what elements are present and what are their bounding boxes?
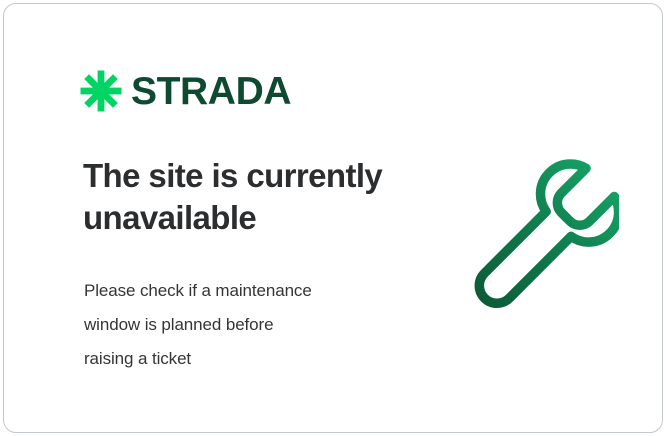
strada-asterisk-icon xyxy=(80,70,122,112)
brand-wordmark: STRADA xyxy=(131,72,291,111)
description-line: raising a ticket xyxy=(84,342,414,376)
page-description: Please check if a maintenance window is … xyxy=(84,274,414,376)
page-title: The site is currently unavailable xyxy=(83,155,443,239)
description-line: Please check if a maintenance xyxy=(84,274,414,308)
error-page: STRADA The site is currently unavailable… xyxy=(0,0,666,436)
brand-logo: STRADA xyxy=(80,70,291,112)
maintenance-illustration xyxy=(459,152,619,312)
wrench-icon xyxy=(459,152,619,312)
message-card: STRADA The site is currently unavailable… xyxy=(3,3,663,433)
description-line: window is planned before xyxy=(84,308,414,342)
